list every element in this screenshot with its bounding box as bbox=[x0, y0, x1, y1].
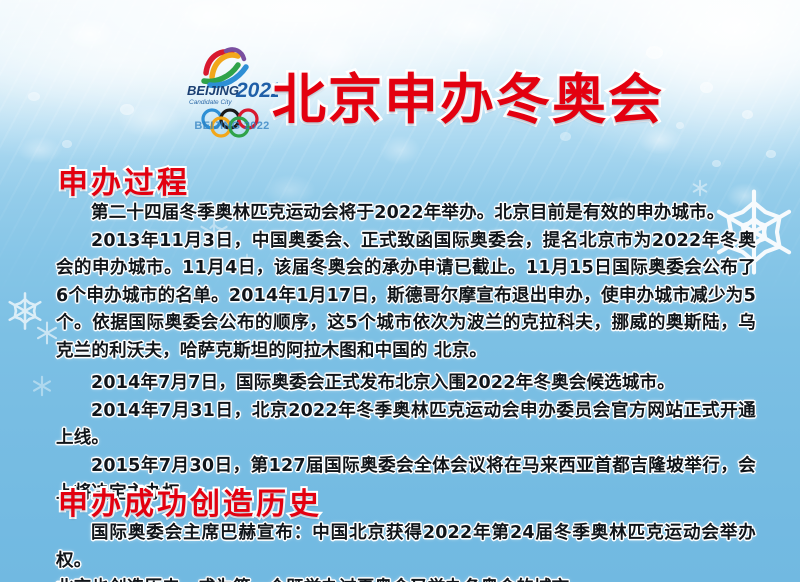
paragraph: 2013年11月3日，中国奥委会、正式致函国际奥委会，提名北京市为2022年冬奥… bbox=[56, 228, 756, 366]
section-title-success: 申办成功创造历史 bbox=[58, 486, 322, 524]
paragraph: 国际奥委会主席巴赫宣布：中国北京获得2022年第24届冬季奥林匹克运动会举办权。 bbox=[56, 520, 756, 575]
poster-canvas: BEIJING Candidate City 2022 BEIJING 2022… bbox=[0, 0, 800, 582]
svg-text:BEIJING: BEIJING bbox=[187, 83, 239, 98]
snowflake-icon-left-a bbox=[4, 290, 46, 332]
paragraph: 第二十四届冬季奥林匹克运动会将于2022年举办。北京目前是有效的申办城市。 bbox=[56, 200, 756, 228]
section-title-process: 申办过程 bbox=[58, 165, 190, 203]
snowflake-icon-right-small bbox=[690, 178, 710, 198]
logo-caption: BEIJING 2022 bbox=[190, 118, 274, 134]
paragraph: 2014年7月7日，国际奥委会正式发布北京入围2022年冬奥会候选城市。 bbox=[56, 370, 756, 398]
paragraph: 2014年7月31日，北京2022年冬季奥林匹克运动会申办委员会官方网站正式开通… bbox=[56, 398, 756, 453]
page-title: 北京申办冬奥会 bbox=[272, 66, 664, 134]
svg-text:Candidate City: Candidate City bbox=[189, 99, 232, 106]
snowflake-icon-bottom-left bbox=[30, 374, 54, 398]
section-body-success: 国际奥委会主席巴赫宣布：中国北京获得2022年第24届冬季奥林匹克运动会举办权。… bbox=[56, 520, 756, 582]
section-body-process: 第二十四届冬季奥林匹克运动会将于2022年举办。北京目前是有效的申办城市。 20… bbox=[56, 200, 756, 365]
paragraph: 北京也创造历史，成为第一个既举办过夏奥会又举办冬奥会的城市。 bbox=[56, 575, 756, 582]
